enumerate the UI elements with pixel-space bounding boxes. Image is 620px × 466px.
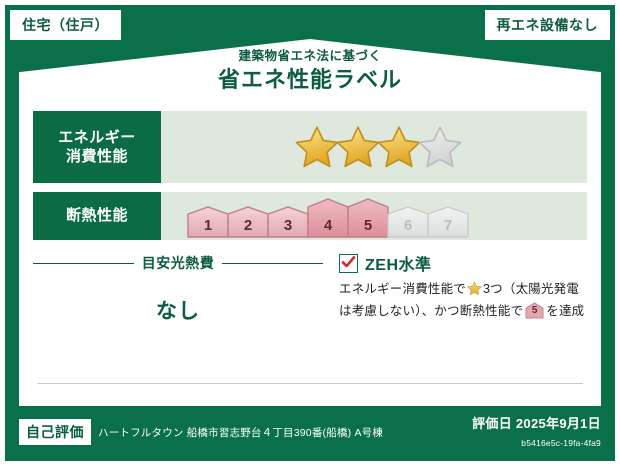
energy-performance-label-line1: エネルギー: [58, 128, 136, 148]
insulation-level-value: 4: [307, 217, 349, 234]
utility-cost-value: なし: [33, 295, 323, 325]
utility-cost-heading-text: 目安光熱費: [142, 253, 215, 273]
footer: 自己評価 ハートフルタウン 船橋市習志野台４丁目390番(船橋) A号棟 評価日…: [19, 415, 601, 449]
panel-divider: [37, 383, 583, 385]
rule-right: [222, 263, 323, 264]
label-body-panel: エネルギー 消費性能 断熱性能 1234567 目安光熱費: [19, 100, 601, 406]
insulation-performance-value: 1234567: [161, 192, 587, 240]
self-evaluation-badge: 自己評価: [19, 419, 91, 445]
mini-house-value: 5: [525, 303, 544, 319]
insulation-level-2: 2: [227, 194, 269, 238]
zeh-checkbox[interactable]: [339, 254, 358, 273]
zeh-desc-part2: は考慮しない）、かつ断熱性能で: [339, 304, 523, 318]
lower-section: 目安光熱費 なし ZEH水準 エネルギー消費性能で3つ（太陽光発電 は考慮: [33, 249, 587, 325]
zeh-section: ZEH水準 エネルギー消費性能で3つ（太陽光発電 は考慮しない）、かつ断熱性能で…: [333, 249, 587, 325]
star-empty-icon: [418, 125, 462, 169]
evaluation-id: b5416e5c-19fa-4fa9: [521, 438, 601, 448]
star-filled-icon: [295, 125, 339, 169]
insulation-performance-label-text: 断熱性能: [66, 206, 128, 226]
property-address: ハートフルタウン 船橋市習志野台４丁目390番(船橋) A号棟: [98, 425, 383, 440]
house-level-scale: 1234567: [187, 194, 467, 238]
utility-cost-heading: 目安光熱費: [33, 253, 323, 273]
star-filled-icon: [377, 125, 421, 169]
energy-performance-label-card: 住宅（住戸） 再エネ設備なし 建築物省エネ法に基づく 省エネ性能ラベル エネルギ…: [0, 0, 620, 466]
label-subtitle: 建築物省エネ法に基づく: [5, 49, 615, 64]
check-icon: [341, 255, 356, 270]
zeh-desc-part3: を達成: [546, 304, 584, 318]
zeh-desc-part1: エネルギー消費性能で: [339, 282, 466, 296]
zeh-desc-star-count: 3つ（太陽光発電: [483, 282, 579, 296]
badge-renewable-energy: 再エネ設備なし: [485, 10, 611, 40]
insulation-level-value: 3: [267, 217, 309, 234]
insulation-level-value: 5: [347, 217, 389, 234]
star-filled-icon: [336, 125, 380, 169]
badge-building-type: 住宅（住戸）: [10, 10, 121, 40]
mini-star-icon: [467, 285, 482, 299]
insulation-level-value: 6: [387, 217, 429, 234]
insulation-level-6: 6: [387, 194, 429, 238]
insulation-level-3: 3: [267, 194, 309, 238]
mini-house-badge: 5: [525, 302, 544, 319]
insulation-level-5: 5: [347, 194, 389, 238]
rule-left: [33, 263, 134, 264]
insulation-level-4: 4: [307, 194, 349, 238]
title-block: 建築物省エネ法に基づく 省エネ性能ラベル: [5, 49, 615, 94]
insulation-level-value: 1: [187, 217, 229, 234]
footer-right: 評価日 2025年9月1日 b5416e5c-19fa-4fa9: [472, 413, 601, 451]
star-rating: [295, 125, 459, 169]
evaluation-date: 評価日 2025年9月1日: [472, 416, 601, 431]
insulation-level-value: 2: [227, 217, 269, 234]
insulation-performance-row: 断熱性能 1234567: [33, 192, 587, 240]
insulation-performance-label: 断熱性能: [33, 192, 161, 240]
utility-cost-section: 目安光熱費 なし: [33, 249, 333, 325]
zeh-title: ZEH水準: [365, 251, 432, 275]
zeh-heading: ZEH水準: [339, 251, 587, 275]
energy-performance-label-line2: 消費性能: [66, 147, 128, 167]
insulation-level-value: 7: [427, 217, 469, 234]
page-title: 省エネ性能ラベル: [5, 66, 615, 94]
energy-performance-value: [161, 111, 587, 183]
energy-performance-row: エネルギー 消費性能: [33, 111, 587, 183]
energy-performance-label: エネルギー 消費性能: [33, 111, 161, 183]
insulation-level-7: 7: [427, 194, 469, 238]
zeh-description: エネルギー消費性能で3つ（太陽光発電 は考慮しない）、かつ断熱性能で5を達成: [339, 280, 587, 322]
insulation-level-1: 1: [187, 194, 229, 238]
